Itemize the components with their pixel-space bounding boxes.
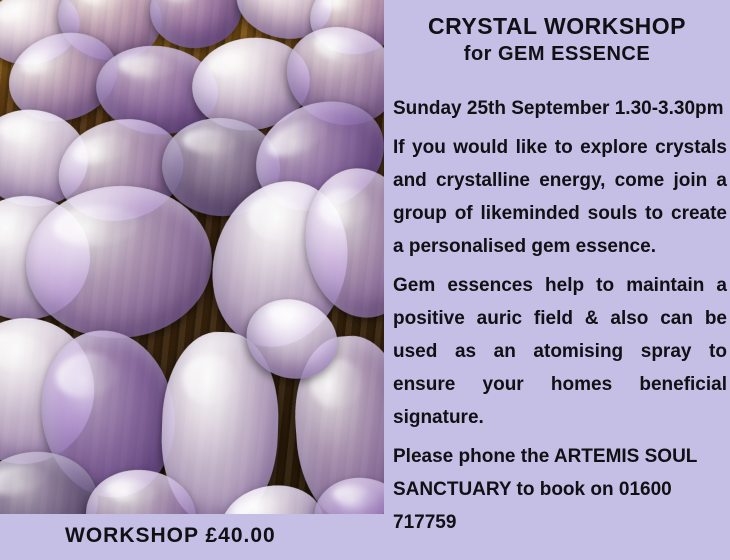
- booking-contact-paragraph: Please phone the ARTEMIS SOUL SANCTUARY …: [393, 440, 727, 539]
- photo-wood-background: [0, 0, 384, 514]
- text-panel: CRYSTAL WORKSHOP for GEM ESSENCE Sunday …: [384, 0, 730, 560]
- flyer-body: Sunday 25th September 1.30-3.30pm If you…: [393, 92, 727, 539]
- crystal-workshop-flyer: CRYSTAL WORKSHOP for GEM ESSENCE Sunday …: [0, 0, 730, 560]
- amethyst-photo: [0, 0, 384, 514]
- body-paragraph-2: Gem essences help to maintain a positive…: [393, 269, 727, 434]
- headline-line-1: CRYSTAL WORKSHOP: [384, 12, 730, 41]
- workshop-price: WORKSHOP £40.00: [65, 524, 276, 548]
- body-paragraph-1: If you would like to explore crystals an…: [393, 131, 727, 263]
- flyer-headline: CRYSTAL WORKSHOP for GEM ESSENCE: [384, 12, 730, 67]
- headline-line-2: for GEM ESSENCE: [384, 41, 730, 67]
- workshop-date-line: Sunday 25th September 1.30-3.30pm: [393, 92, 727, 125]
